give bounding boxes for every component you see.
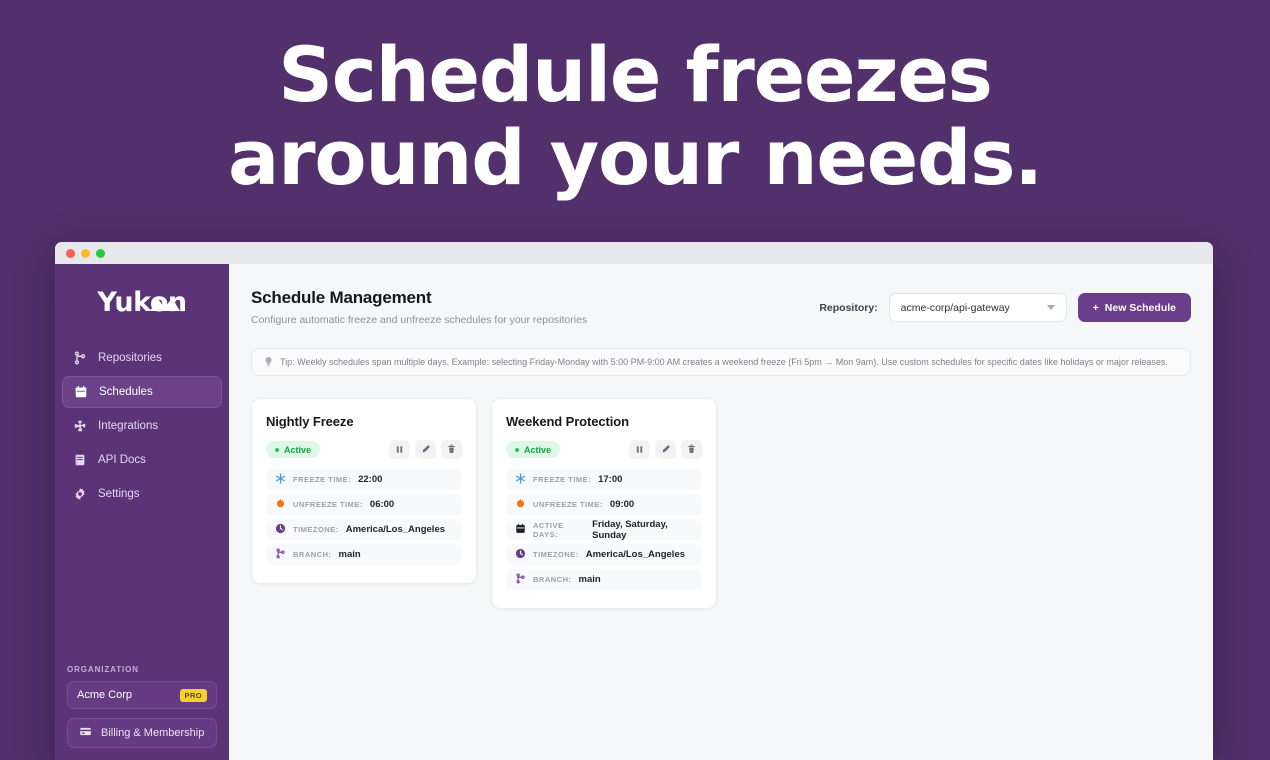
sidebar-item-repositories[interactable]: Repositories <box>62 342 222 374</box>
sidebar-item-label: Settings <box>98 488 140 500</box>
status-badge: Active <box>266 441 320 458</box>
edit-icon <box>661 442 671 457</box>
lightbulb-icon <box>264 356 273 369</box>
detail-row: Freeze time: 22:00 <box>266 469 462 490</box>
delete-icon <box>447 442 456 457</box>
mountain-peaks-icon <box>148 285 182 323</box>
status-badge: Active <box>506 441 560 458</box>
detail-label: Unfreeze time: <box>533 500 603 509</box>
gear-icon <box>73 487 87 501</box>
detail-value: 06:00 <box>370 499 394 510</box>
credit-card-icon <box>79 725 92 741</box>
detail-label: Branch: <box>293 550 332 559</box>
detail-row: Unfreeze time: 09:00 <box>506 494 702 515</box>
billing-membership-button[interactable]: Billing & Membership <box>67 718 217 748</box>
organization-switcher[interactable]: Acme Corp PRO <box>67 681 217 709</box>
detail-row: Freeze time: 17:00 <box>506 469 702 490</box>
sidebar-item-label: API Docs <box>98 454 146 466</box>
delete-icon <box>687 442 696 457</box>
schedule-detail-rows: Freeze time: 17:00 Unfreeze time: 09:00 <box>506 469 702 590</box>
plus-icon: + <box>1093 302 1099 314</box>
browser-window: Yukon Repositories <box>55 242 1213 760</box>
schedule-detail-rows: Freeze time: 22:00 Unfreeze time: 06:00 <box>266 469 462 565</box>
clock-icon <box>515 546 526 564</box>
status-label: Active <box>524 445 551 455</box>
sidebar-item-settings[interactable]: Settings <box>62 478 222 510</box>
app-logo[interactable]: Yukon <box>55 284 229 326</box>
repository-select[interactable]: acme-corp/api-gateway <box>889 293 1067 322</box>
schedule-card-toolbar: Active <box>506 440 702 459</box>
page-subtitle: Configure automatic freeze and unfreeze … <box>251 314 587 326</box>
git-branch-icon <box>73 351 87 365</box>
app-body: Yukon Repositories <box>55 264 1213 760</box>
git-branch-icon <box>515 571 526 589</box>
main-content: Schedule Management Configure automatic … <box>229 264 1213 760</box>
detail-row: Branch: main <box>506 569 702 590</box>
edit-icon <box>421 442 431 457</box>
page-header: Schedule Management Configure automatic … <box>251 288 1191 326</box>
detail-value: 09:00 <box>610 499 634 510</box>
detail-value: main <box>579 574 601 585</box>
page-header-actions: Repository: acme-corp/api-gateway + New … <box>819 293 1191 322</box>
sidebar-nav: Repositories Schedules <box>55 342 229 510</box>
status-label: Active <box>284 445 311 455</box>
detail-row: Timezone: America/Los_Angeles <box>506 544 702 565</box>
delete-button[interactable] <box>681 440 702 459</box>
tip-text: Tip: Weekly schedules span multiple days… <box>280 357 1168 367</box>
close-dot[interactable] <box>66 249 75 258</box>
schedule-card-title: Weekend Protection <box>506 414 702 429</box>
snowflake-icon <box>275 471 286 489</box>
pause-icon <box>395 442 404 457</box>
detail-label: Branch: <box>533 575 572 584</box>
organization-section: ORGANIZATION Acme Corp PRO Billing & Me <box>55 665 229 760</box>
detail-label: Timezone: <box>533 550 579 559</box>
detail-label: Unfreeze time: <box>293 500 363 509</box>
sidebar-item-api-docs[interactable]: API Docs <box>62 444 222 476</box>
detail-value: 17:00 <box>598 474 622 485</box>
snowflake-icon <box>515 471 526 489</box>
repository-label: Repository: <box>819 302 877 314</box>
schedule-card-toolbar: Active <box>266 440 462 459</box>
page-title: Schedule Management <box>251 288 587 308</box>
tip-banner: Tip: Weekly schedules span multiple days… <box>251 348 1191 376</box>
flame-icon <box>515 496 526 514</box>
flame-icon <box>275 496 286 514</box>
hero-section: Schedule freezes around your needs. <box>0 0 1270 200</box>
sidebar-item-schedules[interactable]: Schedules <box>62 376 222 408</box>
edit-button[interactable] <box>415 440 436 459</box>
page-header-text: Schedule Management Configure automatic … <box>251 288 587 326</box>
sidebar-item-label: Integrations <box>98 420 158 432</box>
sidebar-item-integrations[interactable]: Integrations <box>62 410 222 442</box>
detail-row: Active days: Friday, Saturday, Sunday <box>506 519 702 540</box>
git-branch-icon <box>275 546 286 564</box>
detail-value: 22:00 <box>358 474 382 485</box>
detail-value: main <box>339 549 361 560</box>
detail-label: Freeze time: <box>293 475 351 484</box>
detail-label: Timezone: <box>293 525 339 534</box>
status-dot-icon <box>275 448 279 452</box>
delete-button[interactable] <box>441 440 462 459</box>
schedule-card: Nightly Freeze Active <box>251 398 477 584</box>
repository-value: acme-corp/api-gateway <box>901 302 1010 314</box>
chevron-down-icon <box>1047 305 1055 310</box>
status-dot-icon <box>515 448 519 452</box>
sidebar-item-label: Schedules <box>99 386 153 398</box>
minimize-dot[interactable] <box>81 249 90 258</box>
maximize-dot[interactable] <box>96 249 105 258</box>
detail-value: America/Los_Angeles <box>586 549 685 560</box>
hero-headline-line2: around your needs. <box>0 117 1270 200</box>
calendar-icon <box>515 521 526 539</box>
book-icon <box>73 453 87 467</box>
organization-name: Acme Corp <box>77 689 132 701</box>
schedule-card-title: Nightly Freeze <box>266 414 462 429</box>
detail-row: Branch: main <box>266 544 462 565</box>
detail-value: America/Los_Angeles <box>346 524 445 535</box>
new-schedule-label: New Schedule <box>1105 302 1176 314</box>
detail-label: Freeze time: <box>533 475 591 484</box>
detail-row: Unfreeze time: 06:00 <box>266 494 462 515</box>
calendar-icon <box>74 385 88 399</box>
schedule-cards: Nightly Freeze Active <box>251 398 1191 609</box>
window-titlebar <box>55 242 1213 264</box>
hero-headline-line1: Schedule freezes <box>0 34 1270 117</box>
detail-label: Active days: <box>533 521 585 539</box>
pause-button[interactable] <box>389 440 410 459</box>
clock-icon <box>275 521 286 539</box>
edit-button[interactable] <box>655 440 676 459</box>
sidebar-item-label: Repositories <box>98 352 162 364</box>
sidebar: Yukon Repositories <box>55 264 229 760</box>
schedule-card: Weekend Protection Active <box>491 398 717 609</box>
billing-label: Billing & Membership <box>101 727 204 739</box>
pause-button[interactable] <box>629 440 650 459</box>
organization-label: ORGANIZATION <box>67 665 217 674</box>
new-schedule-button[interactable]: + New Schedule <box>1078 293 1191 322</box>
detail-row: Timezone: America/Los_Angeles <box>266 519 462 540</box>
pro-badge: PRO <box>180 689 207 702</box>
pause-icon <box>635 442 644 457</box>
puzzle-icon <box>73 419 87 433</box>
detail-value: Friday, Saturday, Sunday <box>592 519 693 541</box>
